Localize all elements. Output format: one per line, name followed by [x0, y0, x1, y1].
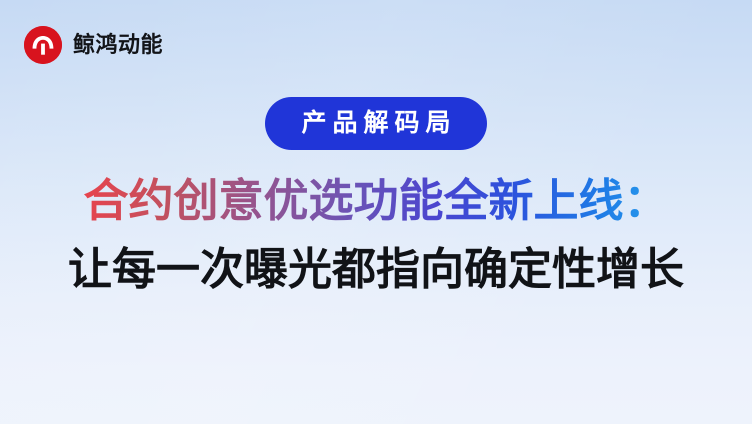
brand-lockup: 鲸鸿动能 — [24, 26, 163, 64]
headline-block: 合约创意优选功能全新上线： 让每一次曝光都指向确定性增长 — [0, 172, 752, 298]
headline-secondary: 让每一次曝光都指向确定性增长 — [0, 242, 752, 298]
brand-name: 鲸鸿动能 — [73, 34, 163, 56]
badge-container: 产品解码局 — [0, 97, 752, 150]
headline-primary: 合约创意优选功能全新上线： — [0, 172, 752, 230]
category-badge: 产品解码局 — [265, 97, 486, 150]
poster-canvas: 鲸鸿动能 产品解码局 合约创意优选功能全新上线： 让每一次曝光都指向确定性增长 — [0, 0, 752, 424]
jinghong-circle-logo-icon — [24, 26, 62, 64]
